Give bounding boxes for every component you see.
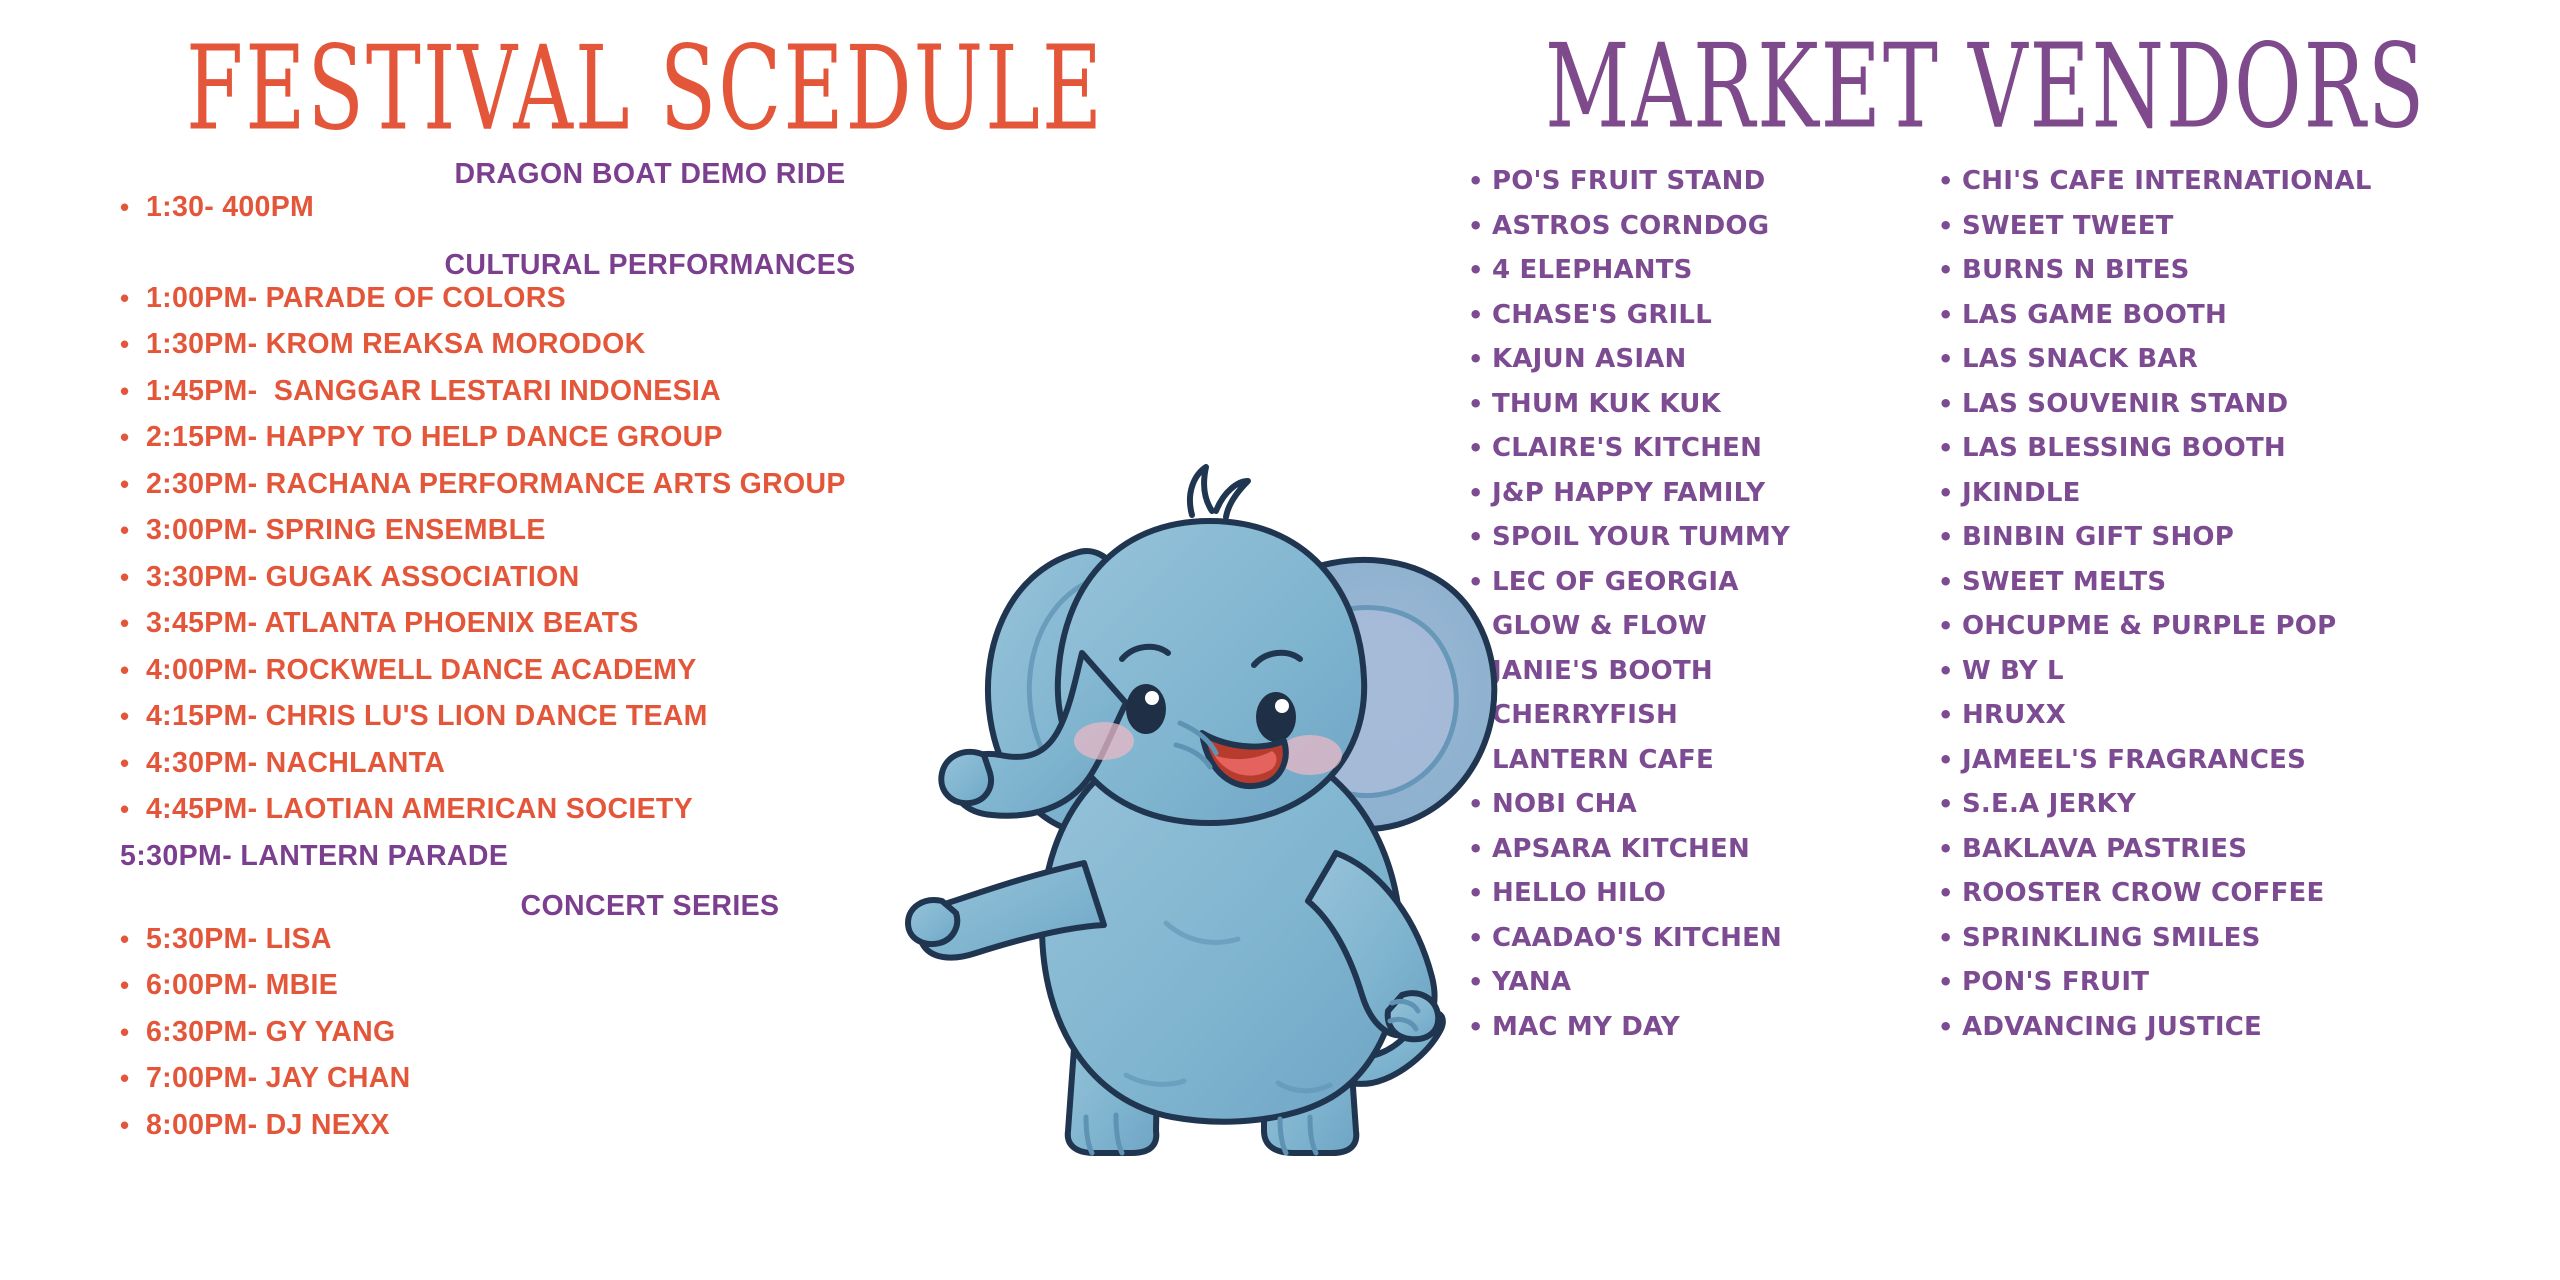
vendor-name-label: LAS GAME BOOTH [1962, 302, 2227, 328]
bullet-icon: • [1468, 258, 1492, 282]
vendor-list-item: •4 ELEPHANTS [1468, 257, 1938, 283]
schedule-item-label: 7:00PM- JAY CHAN [146, 1064, 411, 1093]
schedule-item-label: 3:00PM- SPRING ENSEMBLE [146, 516, 546, 545]
schedule-item-label: 1:00PM- PARADE OF COLORS [146, 284, 566, 313]
bullet-icon: • [1938, 570, 1962, 594]
vendor-name-label: KAJUN ASIAN [1492, 346, 1686, 372]
bullet-icon: • [1938, 970, 1962, 994]
schedule-item: • 1:45PM- SANGGAR LESTARI INDONESIA [120, 377, 1120, 406]
vendor-list-item: •BINBIN GIFT SHOP [1938, 524, 2560, 550]
cartoon-elephant-mascot [880, 455, 1530, 1175]
vendor-name-label: ROOSTER CROW COFFEE [1962, 880, 2324, 906]
vendor-list-item: •PON'S FRUIT [1938, 969, 2560, 995]
vendor-name-label: JKINDLE [1962, 480, 2081, 506]
vendor-column-2: •CHI'S CAFE INTERNATIONAL•SWEET TWEET•BU… [1938, 168, 2560, 1058]
vendor-name-label: LAS BLESSING BOOTH [1962, 435, 2286, 461]
vendor-list-item: •CAADAO'S KITCHEN [1468, 925, 1938, 951]
section-heading-dragon-boat: DRAGON BOAT DEMO RIDE [120, 160, 1120, 189]
market-vendors-title: MARKET VENDORS [1545, 20, 2426, 155]
bullet-icon: • [120, 471, 146, 497]
vendor-name-label: CHASE'S GRILL [1492, 302, 1712, 328]
vendor-name-label: OHCUPME & PURPLE POP [1962, 613, 2336, 639]
vendor-list-item: •ROOSTER CROW COFFEE [1938, 880, 2560, 906]
bullet-icon: • [1938, 481, 1962, 505]
bullet-icon: • [1938, 303, 1962, 327]
bullet-icon: • [120, 331, 146, 357]
vendor-list-item: •KAJUN ASIAN [1468, 346, 1938, 372]
bullet-icon: • [1938, 169, 1962, 193]
schedule-item-label: 3:45PM- ATLANTA PHOENIX BEATS [146, 609, 639, 638]
schedule-item-label: 1:30- 400PM [146, 193, 314, 222]
vendor-list-item: •S.E.A JERKY [1938, 791, 2560, 817]
bullet-icon: • [120, 703, 146, 729]
bullet-icon: • [120, 194, 146, 220]
bullet-icon: • [1938, 881, 1962, 905]
vendor-list-item: •BURNS N BITES [1938, 257, 2560, 283]
elephant-head [1058, 521, 1364, 823]
festival-schedule-title: FESTIVAL SCEDULE [186, 22, 1104, 157]
vendor-list-item: •ASTROS CORNDOG [1468, 213, 1938, 239]
vendor-list-item: •ADVANCING JUSTICE [1938, 1014, 2560, 1040]
elephant-hair-tuft [1190, 467, 1212, 515]
vendor-list-item: •LEC OF GEORGIA [1468, 569, 1938, 595]
bullet-icon: • [120, 1065, 146, 1091]
schedule-item-label: 4:30PM- NACHLANTA [146, 749, 445, 778]
vendor-list-item: •LAS GAME BOOTH [1938, 302, 2560, 328]
schedule-item-label: 1:45PM- SANGGAR LESTARI INDONESIA [146, 377, 721, 406]
schedule-item: • 1:00PM- PARADE OF COLORS [120, 284, 1120, 313]
vendor-name-label: APSARA KITCHEN [1492, 836, 1750, 862]
bullet-icon: • [120, 378, 146, 404]
bullet-icon: • [120, 796, 146, 822]
vendor-name-label: PON'S FRUIT [1962, 969, 2149, 995]
vendor-name-label: SWEET TWEET [1962, 213, 2174, 239]
vendor-name-label: BURNS N BITES [1962, 257, 2190, 283]
vendor-list-item: •CHASE'S GRILL [1468, 302, 1938, 328]
vendor-list-item: •BAKLAVA PASTRIES [1938, 836, 2560, 862]
bullet-icon: • [120, 285, 146, 311]
vendor-list-item: •LAS SNACK BAR [1938, 346, 2560, 372]
bullet-icon: • [1938, 659, 1962, 683]
vendor-name-label: SWEET MELTS [1962, 569, 2166, 595]
vendor-list-item: •CLAIRE'S KITCHEN [1468, 435, 1938, 461]
elephant-eye-right [1256, 692, 1296, 742]
elephant-hand-left [908, 900, 957, 944]
bullet-icon: • [1468, 169, 1492, 193]
vendor-list-item: •LANTERN CAFE [1468, 747, 1938, 773]
vendor-list-item: •SWEET TWEET [1938, 213, 2560, 239]
bullet-icon: • [1938, 748, 1962, 772]
vendor-list-item: •OHCUPME & PURPLE POP [1938, 613, 2560, 639]
bullet-icon: • [120, 926, 146, 952]
section-heading-cultural-performances: CULTURAL PERFORMANCES [120, 251, 1120, 280]
schedule-item-label: 6:00PM- MBIE [146, 971, 338, 1000]
elephant-cheek-left [1074, 722, 1134, 760]
bullet-icon: • [1468, 303, 1492, 327]
schedule-item-label: 4:45PM- LAOTIAN AMERICAN SOCIETY [146, 795, 693, 824]
vendor-name-label: J&P HAPPY FAMILY [1492, 480, 1765, 506]
vendor-name-label: LAS SOUVENIR STAND [1962, 391, 2288, 417]
vendor-name-label: ASTROS CORNDOG [1492, 213, 1769, 239]
schedule-item: • 1:30- 400PM [120, 193, 1120, 222]
vendor-name-label: JAMEEL'S FRAGRANCES [1962, 747, 2306, 773]
bullet-icon: • [120, 424, 146, 450]
bullet-icon: • [1468, 392, 1492, 416]
schedule-item-label: 8:00PM- DJ NEXX [146, 1111, 390, 1140]
vendor-name-label: CLAIRE'S KITCHEN [1492, 435, 1762, 461]
bullet-icon: • [1938, 1015, 1962, 1039]
bullet-icon: • [1938, 926, 1962, 950]
schedule-item-label: 4:00PM- ROCKWELL DANCE ACADEMY [146, 656, 697, 685]
vendor-name-label: W BY L [1962, 658, 2064, 684]
schedule-item-label: 6:30PM- GY YANG [146, 1018, 396, 1047]
vendor-name-label: S.E.A JERKY [1962, 791, 2136, 817]
vendor-list-item: •LAS BLESSING BOOTH [1938, 435, 2560, 461]
vendor-name-label: PO'S FRUIT STAND [1492, 168, 1765, 194]
bullet-icon: • [1938, 392, 1962, 416]
vendor-list-item: •J&P HAPPY FAMILY [1468, 480, 1938, 506]
schedule-item-label: 5:30PM- LISA [146, 925, 332, 954]
bullet-icon: • [120, 564, 146, 590]
vendor-column-1: •PO'S FRUIT STAND•ASTROS CORNDOG•4 ELEPH… [1468, 168, 1938, 1058]
vendor-name-label: CHI'S CAFE INTERNATIONAL [1962, 168, 2372, 194]
vendor-list-item: •SPRINKLING SMILES [1938, 925, 2560, 951]
vendor-name-label: 4 ELEPHANTS [1492, 257, 1693, 283]
vendor-list-item: •LAS SOUVENIR STAND [1938, 391, 2560, 417]
vendor-name-label: BAKLAVA PASTRIES [1962, 836, 2247, 862]
bullet-icon: • [120, 972, 146, 998]
vendor-list-item: •JKINDLE [1938, 480, 2560, 506]
vendor-name-label: HRUXX [1962, 702, 2066, 728]
bullet-icon: • [1938, 837, 1962, 861]
bullet-icon: • [1468, 214, 1492, 238]
vendor-list-item: •THUM KUK KUK [1468, 391, 1938, 417]
vendor-name-label: BINBIN GIFT SHOP [1962, 524, 2234, 550]
bullet-icon: • [120, 657, 146, 683]
bullet-icon: • [1938, 703, 1962, 727]
vendor-list-item: •NOBI CHA [1468, 791, 1938, 817]
schedule-item-label: 2:30PM- RACHANA PERFORMANCE ARTS GROUP [146, 470, 846, 499]
schedule-item-label: 2:15PM- HAPPY TO HELP DANCE GROUP [146, 423, 723, 452]
bullet-icon: • [120, 610, 146, 636]
bullet-icon: • [120, 1019, 146, 1045]
bullet-icon: • [1938, 214, 1962, 238]
vendor-list-item: •SPOIL YOUR TUMMY [1468, 524, 1938, 550]
elephant-trunk-tip [941, 752, 991, 803]
vendor-list-item: •HRUXX [1938, 702, 2560, 728]
vendor-name-label: SPRINKLING SMILES [1962, 925, 2261, 951]
schedule-item-label: 3:30PM- GUGAK ASSOCIATION [146, 563, 579, 592]
vendor-list-item: •YANA [1468, 969, 1938, 995]
bullet-icon: • [1938, 347, 1962, 371]
market-vendors-list: •PO'S FRUIT STAND•ASTROS CORNDOG•4 ELEPH… [1468, 168, 2560, 1058]
bullet-icon: • [120, 517, 146, 543]
vendor-name-label: LAS SNACK BAR [1962, 346, 2198, 372]
vendor-name-label: THUM KUK KUK [1492, 391, 1721, 417]
vendor-name-label: ADVANCING JUSTICE [1962, 1014, 2262, 1040]
elephant-eye-highlight-left [1145, 691, 1159, 705]
vendor-list-item: •JANIE'S BOOTH [1468, 658, 1938, 684]
vendor-list-item: •PO'S FRUIT STAND [1468, 168, 1938, 194]
vendor-list-item: •HELLO HILO [1468, 880, 1938, 906]
elephant-eye-left [1126, 684, 1166, 734]
vendor-list-item: •W BY L [1938, 658, 2560, 684]
schedule-item: • 2:15PM- HAPPY TO HELP DANCE GROUP [120, 423, 1120, 452]
vendor-list-item: •CHI'S CAFE INTERNATIONAL [1938, 168, 2560, 194]
bullet-icon: • [1938, 525, 1962, 549]
bullet-icon: • [1468, 347, 1492, 371]
vendor-list-item: •APSARA KITCHEN [1468, 836, 1938, 862]
elephant-eye-highlight-right [1275, 699, 1289, 713]
bullet-icon: • [1938, 792, 1962, 816]
vendor-name-label: SPOIL YOUR TUMMY [1492, 524, 1790, 550]
bullet-icon: • [1938, 614, 1962, 638]
bullet-icon: • [120, 750, 146, 776]
vendor-name-label: CAADAO'S KITCHEN [1492, 925, 1782, 951]
bullet-icon: • [1938, 258, 1962, 282]
schedule-item: • 1:30PM- KROM REAKSA MORODOK [120, 330, 1120, 359]
schedule-item-label: 4:15PM- CHRIS LU'S LION DANCE TEAM [146, 702, 708, 731]
vendor-list-item: •MAC MY DAY [1468, 1014, 1938, 1040]
vendor-list-item: •CHERRYFISH [1468, 702, 1938, 728]
vendor-list-item: •JAMEEL'S FRAGRANCES [1938, 747, 2560, 773]
vendor-list-item: •SWEET MELTS [1938, 569, 2560, 595]
schedule-item-label: 1:30PM- KROM REAKSA MORODOK [146, 330, 646, 359]
bullet-icon: • [1938, 436, 1962, 460]
bullet-icon: • [120, 1112, 146, 1138]
vendor-list-item: •GLOW & FLOW [1468, 613, 1938, 639]
